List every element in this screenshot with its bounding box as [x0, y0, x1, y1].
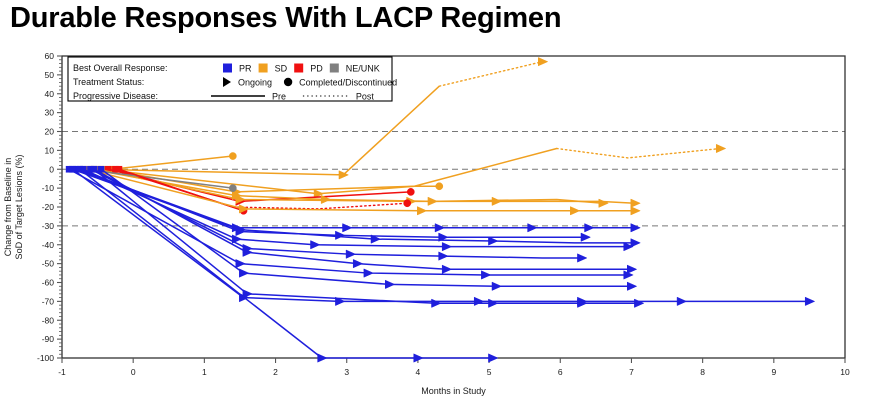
ongoing-marker	[432, 299, 441, 307]
y-axis-title: Change from Baseline inSoD of Target Les…	[3, 155, 24, 260]
ongoing-marker-terminal	[631, 224, 640, 232]
ongoing-marker-terminal	[599, 199, 608, 207]
ongoing-marker	[236, 259, 245, 267]
baseline-marker	[98, 166, 105, 173]
trace-pre-line	[112, 156, 233, 169]
x-tick-label: 0	[131, 367, 136, 377]
ongoing-marker	[677, 297, 686, 305]
legend-item-label: Pre	[272, 92, 286, 102]
y-tick-label: -30	[42, 221, 55, 231]
ongoing-marker	[335, 231, 344, 239]
ongoing-marker-terminal	[631, 207, 640, 215]
x-tick-label: 2	[273, 367, 278, 377]
legend-row-label: Treatment Status:	[73, 77, 144, 87]
completed-marker	[404, 200, 411, 207]
ongoing-marker-terminal	[627, 265, 636, 273]
ongoing-marker	[528, 224, 537, 232]
y-tick-label: -90	[42, 334, 55, 344]
ongoing-marker-terminal	[577, 254, 586, 262]
ongoing-marker-terminal	[581, 233, 590, 241]
trace-post-line	[557, 148, 721, 157]
x-tick-label: 1	[202, 367, 207, 377]
ongoing-marker	[239, 269, 248, 277]
x-tick-label: 9	[771, 367, 776, 377]
ongoing-marker	[585, 224, 594, 232]
ongoing-marker-terminal	[631, 239, 640, 247]
trace-post-line	[439, 62, 542, 87]
legend-item-label: PR	[239, 64, 252, 74]
legend-row-label: Best Overall Response:	[73, 63, 168, 73]
legend-item-label: Completed/Discontinued	[299, 78, 397, 88]
ongoing-marker	[385, 280, 394, 288]
ongoing-marker	[310, 241, 319, 249]
ongoing-marker-terminal	[631, 199, 640, 207]
legend-item-label: Post	[356, 92, 375, 102]
ongoing-marker	[364, 269, 373, 277]
trace-pre-line	[98, 169, 635, 203]
y-tick-label: -70	[42, 296, 55, 306]
ongoing-marker	[435, 224, 444, 232]
legend-swatch-ne-unk	[330, 64, 339, 73]
baseline-marker	[116, 166, 123, 173]
y-axis-title-line: Change from Baseline in	[3, 158, 13, 257]
ongoing-marker	[481, 271, 490, 279]
ongoing-marker-terminal	[538, 57, 547, 65]
y-tick-label: -50	[42, 259, 55, 269]
y-tick-label: -20	[42, 202, 55, 212]
legend-item-label: Ongoing	[238, 78, 272, 88]
completed-marker	[229, 185, 236, 192]
y-axis-title-line: SoD of Target Lesions (%)	[14, 155, 24, 260]
ongoing-marker-terminal	[488, 354, 497, 362]
y-tick-label: -60	[42, 278, 55, 288]
x-tick-label: 8	[700, 367, 705, 377]
ongoing-marker	[474, 297, 483, 305]
legend-swatch-pd	[294, 64, 303, 73]
chart-page: Durable Responses With LACP Regimen 6050…	[0, 0, 879, 404]
ongoing-marker-terminal	[716, 144, 725, 152]
y-tick-label: 20	[45, 127, 55, 137]
ongoing-marker	[442, 242, 451, 250]
x-tick-label: 10	[840, 367, 850, 377]
legend-circle-icon	[284, 78, 292, 86]
legend-swatch-pr	[223, 64, 232, 73]
x-tick-label: 4	[416, 367, 421, 377]
ongoing-marker	[343, 224, 352, 232]
ongoing-marker	[570, 207, 579, 215]
x-tick-label: 5	[487, 367, 492, 377]
legend-row-label: Progressive Disease:	[73, 91, 158, 101]
baseline-marker	[91, 166, 98, 173]
x-axis-title: Months in Study	[421, 386, 486, 396]
ongoing-marker	[353, 259, 362, 267]
legend-item-label: NE/UNK	[346, 64, 380, 74]
x-tick-label: 7	[629, 367, 634, 377]
y-tick-label: 0	[49, 164, 54, 174]
completed-marker	[436, 183, 443, 190]
y-tick-label: -10	[42, 183, 55, 193]
baseline-marker	[69, 166, 76, 173]
y-tick-label: 10	[45, 145, 55, 155]
ongoing-marker	[488, 237, 497, 245]
ongoing-marker-terminal	[627, 282, 636, 290]
ongoing-marker	[488, 299, 497, 307]
y-tick-label: 60	[45, 51, 55, 61]
patient-trace-pt07[interactable]	[94, 166, 640, 207]
legend-item-label: SD	[275, 64, 288, 74]
baseline-marker	[76, 166, 83, 173]
ongoing-marker	[318, 354, 327, 362]
ongoing-marker	[346, 250, 355, 258]
ongoing-marker-terminal	[634, 299, 643, 307]
completed-marker	[229, 152, 236, 159]
legend: Best Overall Response:PRSDPDNE/UNKTreatm…	[68, 57, 397, 102]
legend-swatch-sd	[259, 64, 268, 73]
ongoing-marker	[442, 265, 451, 273]
trace-pre-line	[69, 169, 628, 275]
y-tick-label: -100	[37, 353, 54, 363]
y-tick-label: 50	[45, 70, 55, 80]
ongoing-marker	[492, 282, 501, 290]
trace-post-line	[233, 203, 407, 209]
x-tick-label: -1	[58, 367, 66, 377]
y-tick-label: -80	[42, 315, 55, 325]
x-tick-label: 3	[344, 367, 349, 377]
ongoing-marker	[439, 252, 448, 260]
spider-plot: 6050403020100-10-20-30-40-50-60-70-80-90…	[0, 0, 879, 404]
x-tick-label: 6	[558, 367, 563, 377]
y-tick-label: 40	[45, 89, 55, 99]
ongoing-marker-terminal	[805, 297, 814, 305]
legend-item-label: PD	[310, 64, 323, 74]
ongoing-marker	[492, 197, 501, 205]
y-tick-label: 30	[45, 108, 55, 118]
completed-marker	[407, 188, 414, 195]
y-tick-label: -40	[42, 240, 55, 250]
ongoing-marker	[417, 207, 426, 215]
